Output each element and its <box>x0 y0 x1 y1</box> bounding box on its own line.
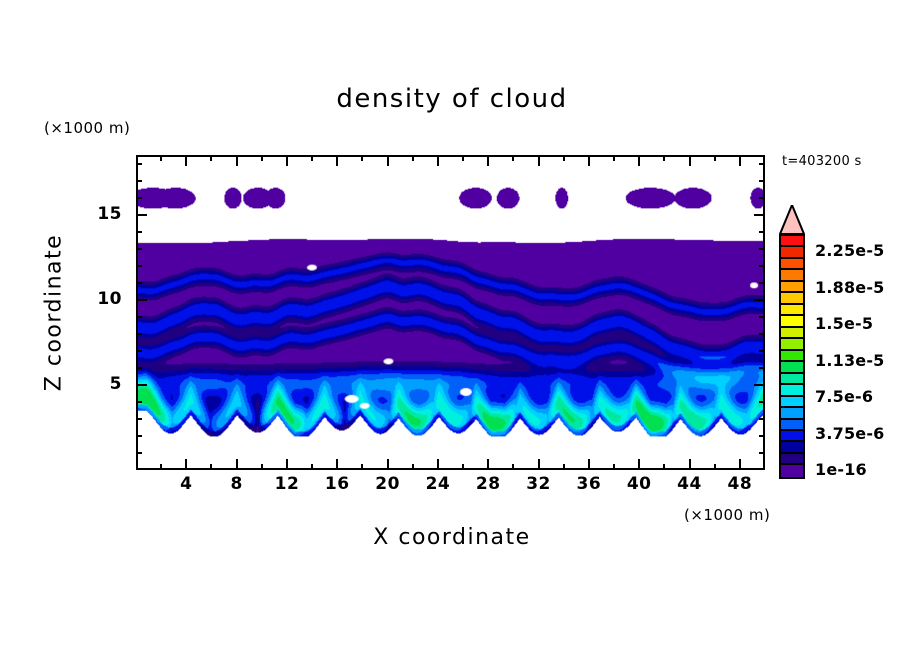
figure-canvas: density of cloud (×1000 m) (×1000 m) X c… <box>0 0 904 654</box>
x-tick-minor <box>512 464 514 470</box>
x-tick-major <box>588 459 590 470</box>
colorbar-band <box>781 431 803 442</box>
x-axis-title: X coordinate <box>0 525 904 550</box>
x-tick-top <box>361 155 363 161</box>
x-tick-major <box>185 459 187 470</box>
x-tick-major <box>387 459 389 470</box>
x-tick-minor <box>714 464 716 470</box>
x-axis-unit-label: (×1000 m) <box>684 506 770 524</box>
colorbar-band <box>781 465 803 476</box>
x-tick-top <box>437 155 439 166</box>
x-tick-major <box>336 459 338 470</box>
y-tick-right <box>759 350 765 352</box>
colorbar-band <box>781 247 803 258</box>
x-tick-top <box>160 155 162 161</box>
colorbar-tick-label: 7.5e-6 <box>815 387 873 406</box>
x-tick-major <box>437 459 439 470</box>
cloud-density-field <box>138 157 763 468</box>
y-tick-minor <box>136 197 142 199</box>
x-tick-label: 20 <box>368 474 408 494</box>
x-tick-top <box>210 155 212 161</box>
colorbar <box>779 234 805 479</box>
y-tick-label: 10 <box>82 289 122 309</box>
y-tick-minor <box>136 401 142 403</box>
y-tick-minor <box>136 231 142 233</box>
x-tick-label: 48 <box>720 474 760 494</box>
contour-plot-area <box>136 155 765 470</box>
colorbar-band <box>781 442 803 453</box>
x-tick-top <box>538 155 540 166</box>
colorbar-tick-label: 1e-16 <box>815 460 867 479</box>
x-tick-major <box>487 459 489 470</box>
y-tick-right <box>759 316 765 318</box>
colorbar-band <box>781 282 803 293</box>
y-tick-minor <box>136 435 142 437</box>
colorbar-band <box>781 293 803 304</box>
x-tick-major <box>739 459 741 470</box>
colorbar-max-arrow <box>779 205 805 235</box>
colorbar-band <box>781 259 803 270</box>
y-tick-label: 15 <box>82 204 122 224</box>
colorbar-tick-label: 2.25e-5 <box>815 241 885 260</box>
x-tick-top <box>588 155 590 166</box>
y-tick-minor <box>136 333 142 335</box>
y-tick-right <box>759 231 765 233</box>
colorbar-band <box>781 385 803 396</box>
y-tick-minor <box>136 452 142 454</box>
y-tick-minor <box>136 418 142 420</box>
colorbar-band <box>781 454 803 465</box>
y-tick-right <box>759 452 765 454</box>
y-tick-right <box>759 435 765 437</box>
y-tick-right <box>759 248 765 250</box>
x-tick-label: 8 <box>217 474 257 494</box>
colorbar-tick-label: 3.75e-6 <box>815 424 885 443</box>
x-tick-label: 4 <box>166 474 206 494</box>
x-tick-major <box>538 459 540 470</box>
x-tick-top <box>739 155 741 166</box>
x-tick-minor <box>663 464 665 470</box>
colorbar-band <box>781 316 803 327</box>
y-tick-right <box>759 333 765 335</box>
y-tick-major <box>136 214 147 216</box>
x-tick-major <box>286 459 288 470</box>
x-tick-label: 44 <box>670 474 710 494</box>
y-tick-right <box>759 282 765 284</box>
x-tick-label: 24 <box>418 474 458 494</box>
colorbar-tick-label: 1.5e-5 <box>815 314 873 333</box>
x-tick-minor <box>613 464 615 470</box>
x-tick-top <box>387 155 389 166</box>
colorbar-band <box>781 408 803 419</box>
x-tick-top <box>689 155 691 166</box>
timestamp-annotation: t=403200 s <box>782 154 862 169</box>
y-tick-major <box>136 384 147 386</box>
y-tick-minor <box>136 163 142 165</box>
colorbar-band <box>781 305 803 316</box>
x-tick-minor <box>563 464 565 470</box>
colorbar-band <box>781 339 803 350</box>
x-tick-label: 16 <box>317 474 357 494</box>
x-tick-major <box>236 459 238 470</box>
x-tick-minor <box>261 464 263 470</box>
colorbar-band <box>781 362 803 373</box>
x-tick-major <box>638 459 640 470</box>
x-tick-major <box>689 459 691 470</box>
y-tick-minor <box>136 282 142 284</box>
y-tick-minor <box>136 265 142 267</box>
x-tick-top <box>336 155 338 166</box>
y-tick-label: 5 <box>82 374 122 394</box>
x-tick-minor <box>361 464 363 470</box>
colorbar-band <box>781 397 803 408</box>
x-tick-top <box>412 155 414 161</box>
x-tick-top <box>236 155 238 166</box>
y-tick-right <box>754 299 765 301</box>
x-tick-label: 40 <box>619 474 659 494</box>
x-tick-minor <box>462 464 464 470</box>
colorbar-band <box>781 236 803 247</box>
x-tick-minor <box>412 464 414 470</box>
y-tick-minor <box>136 180 142 182</box>
y-tick-right <box>759 163 765 165</box>
y-tick-right <box>759 418 765 420</box>
y-tick-minor <box>136 350 142 352</box>
colorbar-band <box>781 351 803 362</box>
x-tick-label: 12 <box>267 474 307 494</box>
x-tick-minor <box>210 464 212 470</box>
y-tick-right <box>759 265 765 267</box>
x-tick-label: 28 <box>468 474 508 494</box>
x-tick-top <box>286 155 288 166</box>
x-tick-top <box>714 155 716 161</box>
y-tick-right <box>759 401 765 403</box>
y-tick-major <box>136 299 147 301</box>
colorbar-band <box>781 374 803 385</box>
x-tick-top <box>261 155 263 161</box>
y-axis-title: Z coordinate <box>42 223 67 403</box>
colorbar-band <box>781 328 803 339</box>
y-tick-right <box>754 384 765 386</box>
x-tick-top <box>613 155 615 161</box>
y-tick-right <box>759 180 765 182</box>
x-tick-top <box>185 155 187 166</box>
y-axis-unit-label: (×1000 m) <box>44 119 130 137</box>
y-tick-right <box>759 367 765 369</box>
colorbar-tick-label: 1.88e-5 <box>815 278 885 297</box>
colorbar-tick-label: 1.13e-5 <box>815 351 885 370</box>
x-tick-minor <box>160 464 162 470</box>
colorbar-band <box>781 420 803 431</box>
x-tick-top <box>663 155 665 161</box>
x-tick-top <box>512 155 514 161</box>
y-tick-right <box>754 214 765 216</box>
colorbar-band <box>781 270 803 281</box>
y-tick-minor <box>136 316 142 318</box>
y-tick-right <box>759 197 765 199</box>
page-title: density of cloud <box>0 84 904 114</box>
x-tick-label: 32 <box>519 474 559 494</box>
x-tick-top <box>487 155 489 166</box>
x-tick-top <box>462 155 464 161</box>
x-tick-top <box>638 155 640 166</box>
y-tick-minor <box>136 248 142 250</box>
x-tick-top <box>311 155 313 161</box>
x-tick-top <box>563 155 565 161</box>
y-tick-minor <box>136 367 142 369</box>
x-tick-label: 36 <box>569 474 609 494</box>
x-tick-minor <box>311 464 313 470</box>
